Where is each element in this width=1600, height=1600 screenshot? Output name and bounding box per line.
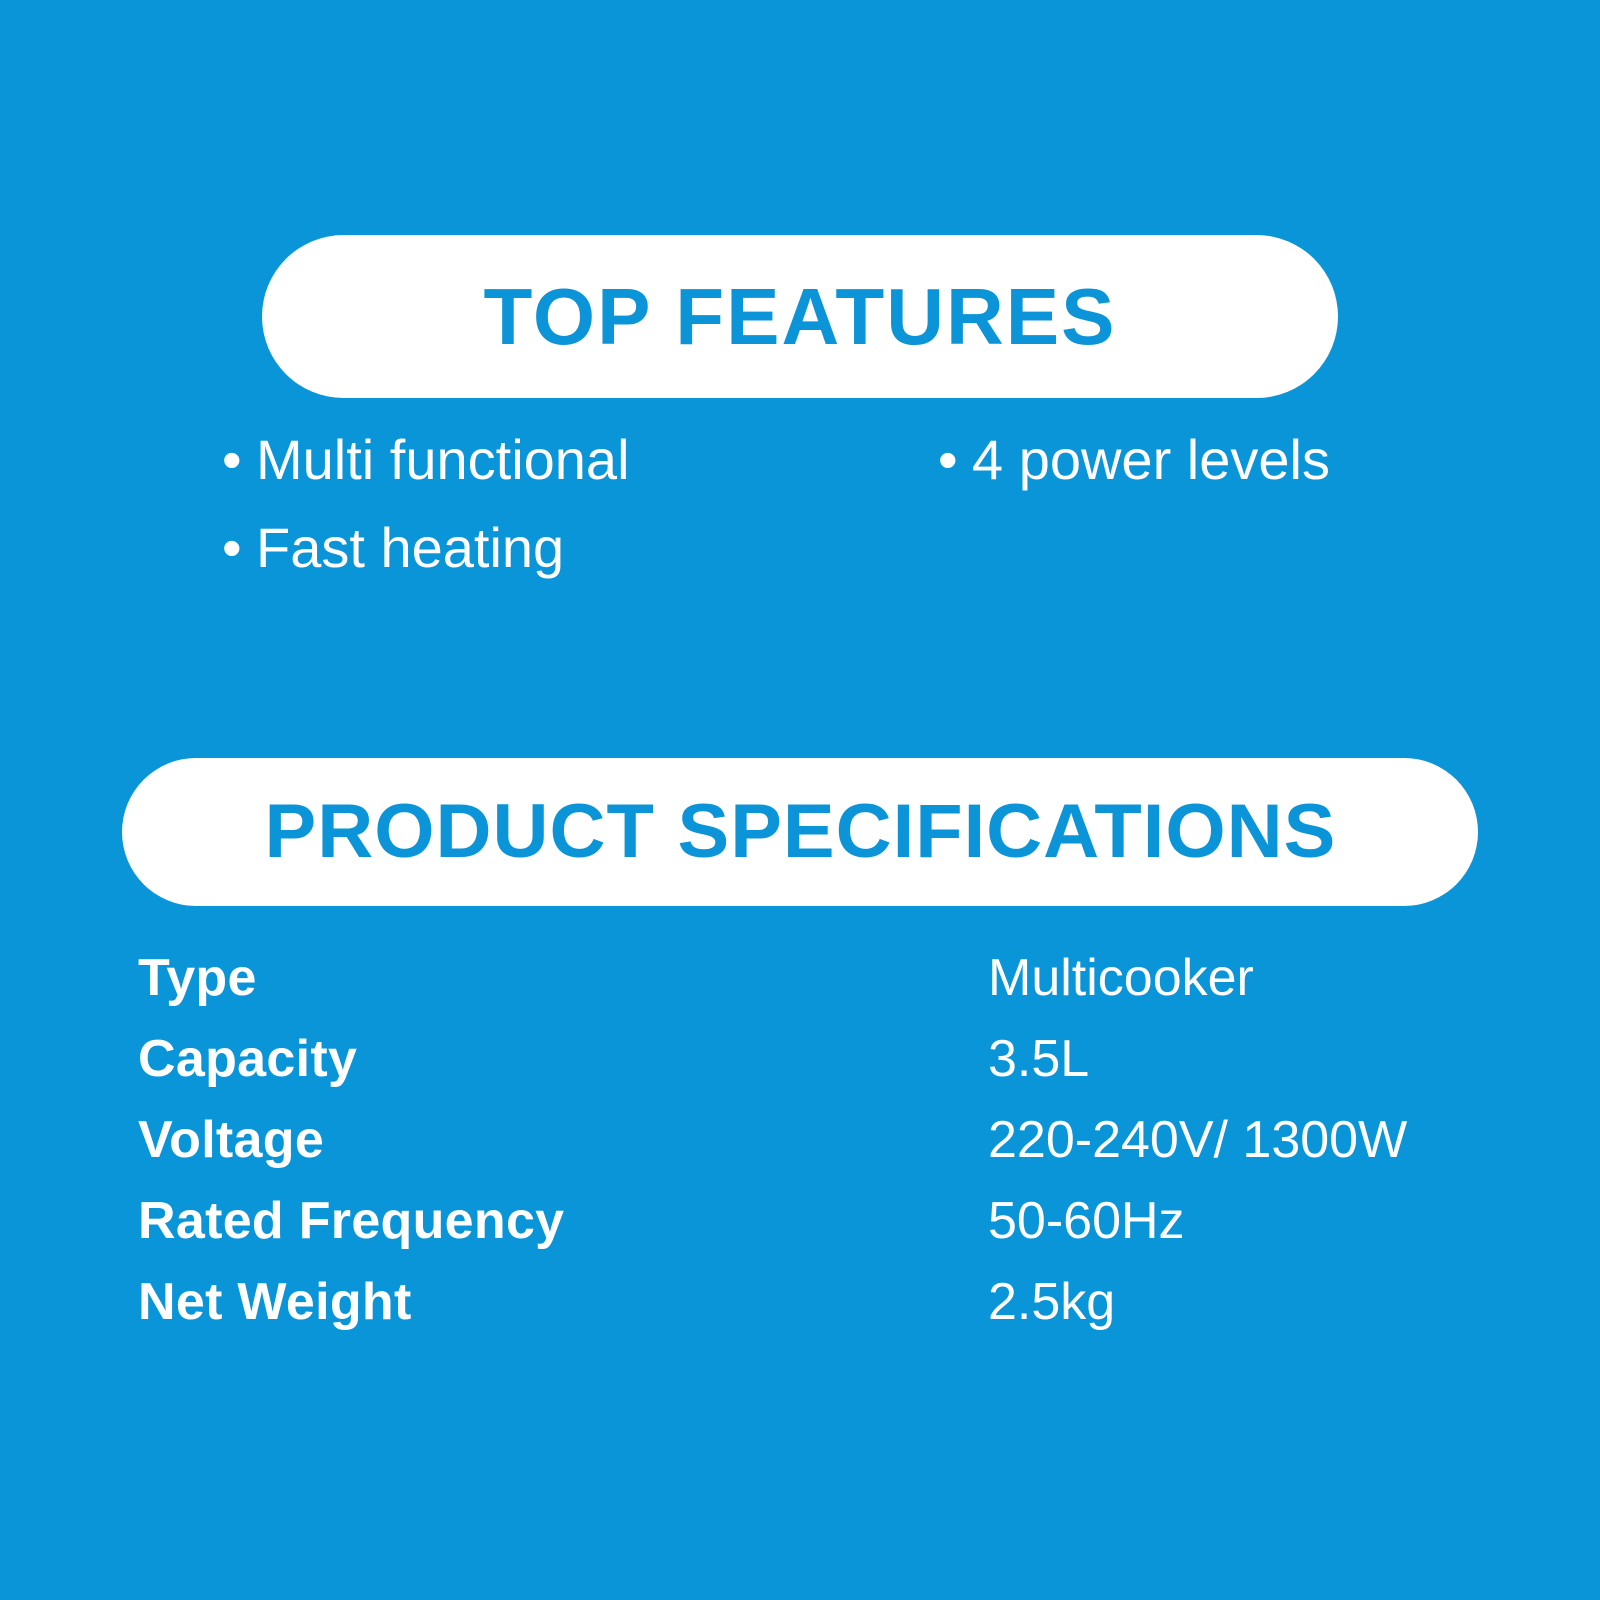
- spec-label: Type: [138, 952, 988, 1004]
- table-row: Voltage 220-240V/ 1300W: [138, 1114, 1478, 1195]
- spec-value: 220-240V/ 1300W: [988, 1114, 1478, 1166]
- product-specifications-heading-pill: PRODUCT SPECIFICATIONS: [122, 758, 1478, 906]
- bullet-icon: •: [222, 432, 256, 488]
- spec-label: Voltage: [138, 1114, 988, 1166]
- list-item: • Fast heating: [222, 520, 882, 608]
- table-row: Capacity 3.5L: [138, 1033, 1478, 1114]
- bullet-icon: •: [222, 520, 256, 576]
- spec-label: Rated Frequency: [138, 1195, 988, 1247]
- features-column-right: • 4 power levels: [938, 432, 1558, 520]
- spec-value: Multicooker: [988, 952, 1478, 1004]
- bullet-icon: •: [938, 432, 972, 488]
- spec-value: 50-60Hz: [988, 1195, 1478, 1247]
- feature-label: Fast heating: [256, 520, 564, 576]
- spec-label: Capacity: [138, 1033, 988, 1085]
- product-specifications-heading-label: PRODUCT SPECIFICATIONS: [264, 794, 1336, 870]
- features-column-left: • Multi functional • Fast heating: [222, 432, 882, 608]
- top-features-heading-pill: TOP FEATURES: [262, 235, 1338, 398]
- spec-label: Net Weight: [138, 1276, 988, 1328]
- list-item: • Multi functional: [222, 432, 882, 520]
- specifications-table: Type Multicooker Capacity 3.5L Voltage 2…: [138, 952, 1478, 1357]
- list-item: • 4 power levels: [938, 432, 1558, 520]
- feature-label: Multi functional: [256, 432, 630, 488]
- spec-value: 3.5L: [988, 1033, 1478, 1085]
- product-info-card: TOP FEATURES • Multi functional • Fast h…: [0, 0, 1600, 1600]
- spec-value: 2.5kg: [988, 1276, 1478, 1328]
- table-row: Net Weight 2.5kg: [138, 1276, 1478, 1357]
- features-list: • Multi functional • Fast heating • 4 po…: [0, 432, 1600, 632]
- feature-label: 4 power levels: [972, 432, 1330, 488]
- table-row: Type Multicooker: [138, 952, 1478, 1033]
- top-features-heading-label: TOP FEATURES: [484, 277, 1117, 357]
- table-row: Rated Frequency 50-60Hz: [138, 1195, 1478, 1276]
